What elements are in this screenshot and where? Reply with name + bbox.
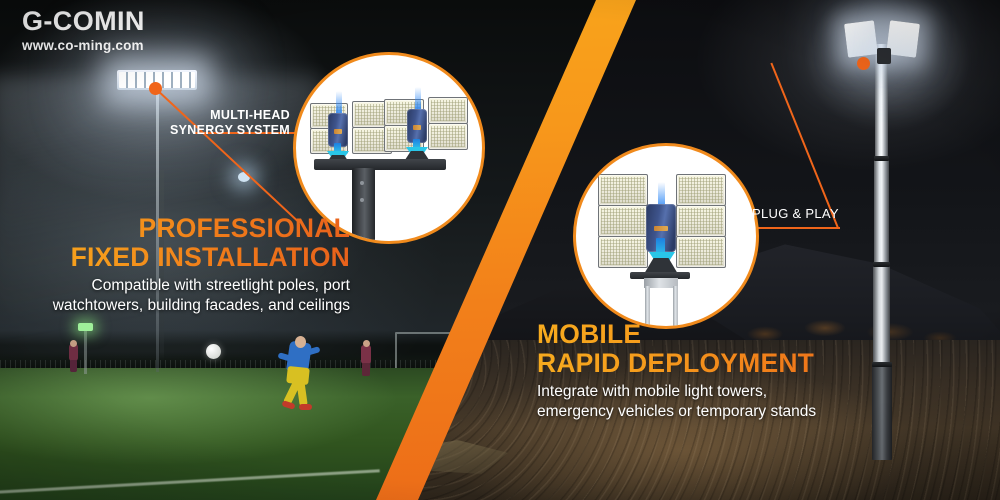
brand-logo: G-COMIN www.co-ming.com xyxy=(22,8,145,53)
leader-dot-right xyxy=(857,57,870,70)
green-marker-lamp xyxy=(84,330,87,374)
mounting-crossbar xyxy=(314,159,446,170)
leader-underline-right xyxy=(745,227,840,229)
left-headline-line2: FIXED INSTALLATION xyxy=(0,243,350,272)
left-text-block: PROFESSIONAL FIXED INSTALLATION Compatib… xyxy=(0,214,350,315)
mounting-pole xyxy=(352,168,375,241)
left-headline-line1: PROFESSIONAL xyxy=(0,214,350,243)
right-subtext-line1: Integrate with mobile light towers, xyxy=(537,382,937,402)
callout-label-right: PLUG & PLAY xyxy=(752,206,862,221)
callout-label-left: MULTI-HEAD SYNERGY SYSTEM xyxy=(150,108,290,138)
brand-url: www.co-ming.com xyxy=(22,38,145,53)
background-player-right xyxy=(358,340,374,376)
brand-name: G-COMIN xyxy=(22,8,145,35)
background-player-left xyxy=(66,340,80,372)
right-text-block: MOBILE RAPID DEPLOYMENT Integrate with m… xyxy=(537,320,937,421)
callout-label-left-line1: MULTI-HEAD xyxy=(150,108,290,123)
callout-label-left-line2: SYNERGY SYSTEM xyxy=(150,123,290,138)
product-banner: G-COMIN www.co-ming.com MULTI-HEAD SYNER… xyxy=(0,0,1000,500)
callout-plug-and-play xyxy=(573,143,759,329)
left-subtext-line1: Compatible with streetlight poles, port xyxy=(0,276,350,296)
left-subtext-line2: watchtowers, building facades, and ceili… xyxy=(0,296,350,316)
right-headline-line2: RAPID DEPLOYMENT xyxy=(537,349,937,378)
right-headline-line1: MOBILE xyxy=(537,320,937,349)
football xyxy=(206,344,221,359)
right-subtext-line2: emergency vehicles or temporary stands xyxy=(537,402,937,422)
tower-lamp-head xyxy=(846,22,922,62)
football-player xyxy=(276,336,320,410)
